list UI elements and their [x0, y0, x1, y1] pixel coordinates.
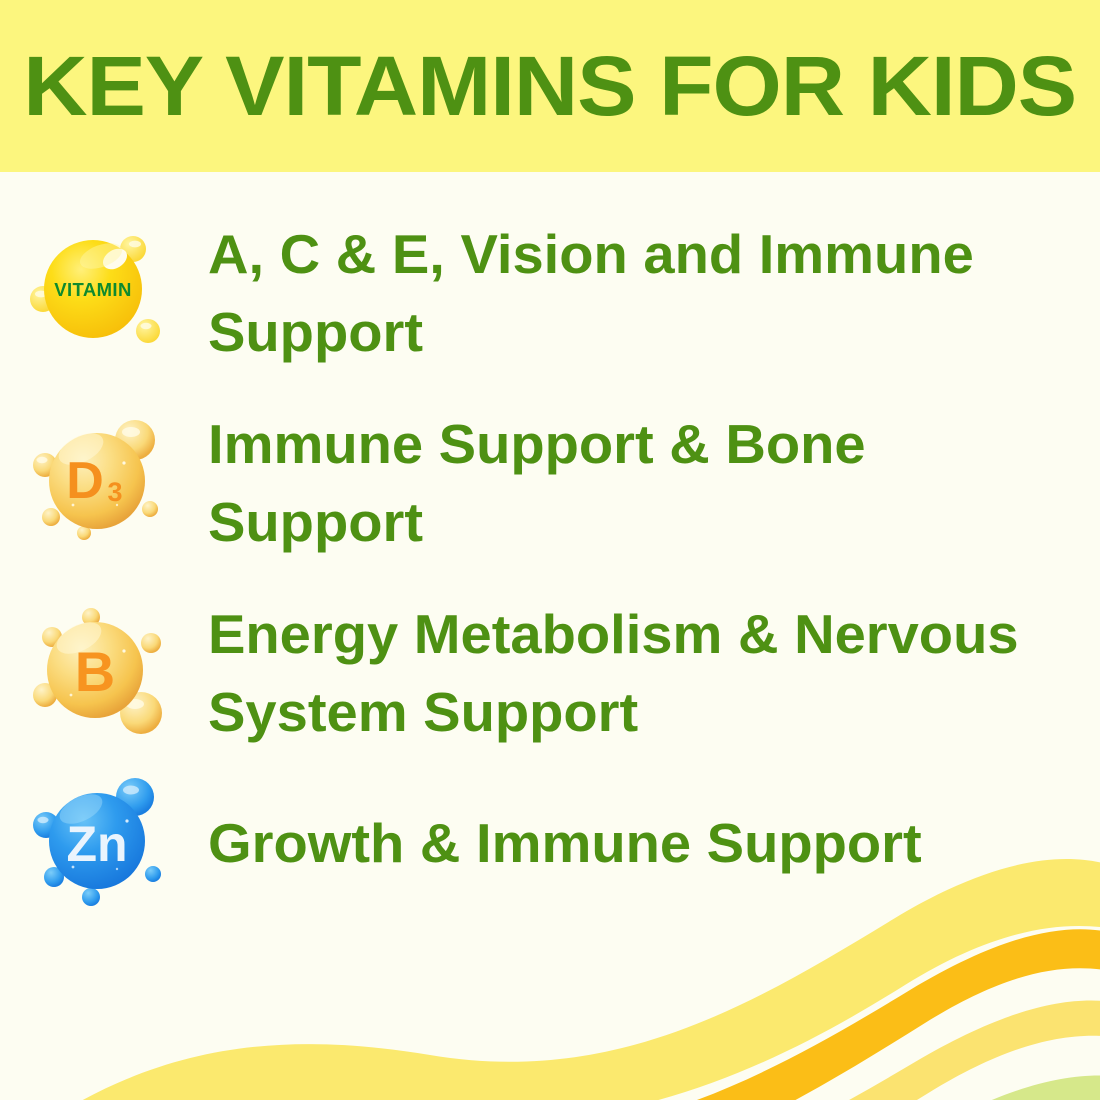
vitamin-sphere-icon: VITAMIN	[29, 223, 179, 363]
text-cell: Growth & Immune Support	[208, 804, 1100, 882]
text-cell: Energy Metabolism & Nervous System Suppo…	[208, 595, 1100, 751]
list-item-text: Growth & Immune Support	[208, 804, 1057, 882]
list-item: Zn Growth & Immune Support	[0, 768, 1100, 918]
zinc-sphere-label: Zn	[66, 816, 127, 872]
list-item-text: Energy Metabolism & Nervous System Suppo…	[208, 595, 1057, 751]
text-cell: Immune Support & Bone Support	[208, 405, 1100, 561]
wave-band-green	[0, 1076, 1100, 1100]
list-item-text: A, C & E, Vision and Immune Support	[208, 215, 1057, 371]
wave-band-orange	[0, 929, 1100, 1100]
list-item: B Energy Metabolism & Nervous System Sup…	[0, 578, 1100, 768]
icon-cell: B	[0, 578, 208, 768]
vitamin-sphere-label: VITAMIN	[54, 279, 131, 300]
vitamin-b-sphere-icon: B	[29, 603, 179, 743]
list-item-text: Immune Support & Bone Support	[208, 405, 1057, 561]
list-item: D 3 Immune Support & Bone Support	[0, 388, 1100, 578]
vitamin-list: VITAMIN A, C & E, Vision and Immune Supp…	[0, 172, 1100, 918]
zinc-sphere-icon: Zn	[29, 773, 179, 913]
wave-band-yellow	[0, 1001, 1100, 1100]
text-cell: A, C & E, Vision and Immune Support	[208, 215, 1100, 371]
vitamin-d3-sphere-subscript: 3	[107, 477, 122, 507]
icon-cell: Zn	[0, 768, 208, 918]
header-band: KEY VITAMINS FOR KIDS	[0, 0, 1100, 172]
icon-cell: VITAMIN	[0, 198, 208, 388]
list-item: VITAMIN A, C & E, Vision and Immune Supp…	[0, 198, 1100, 388]
page-title: KEY VITAMINS FOR KIDS	[24, 44, 1077, 128]
vitamin-d3-sphere-icon: D 3	[29, 413, 179, 553]
icon-cell: D 3	[0, 388, 208, 578]
vitamin-b-sphere-label: B	[75, 640, 115, 703]
vitamin-d3-sphere-label: D	[66, 452, 104, 510]
